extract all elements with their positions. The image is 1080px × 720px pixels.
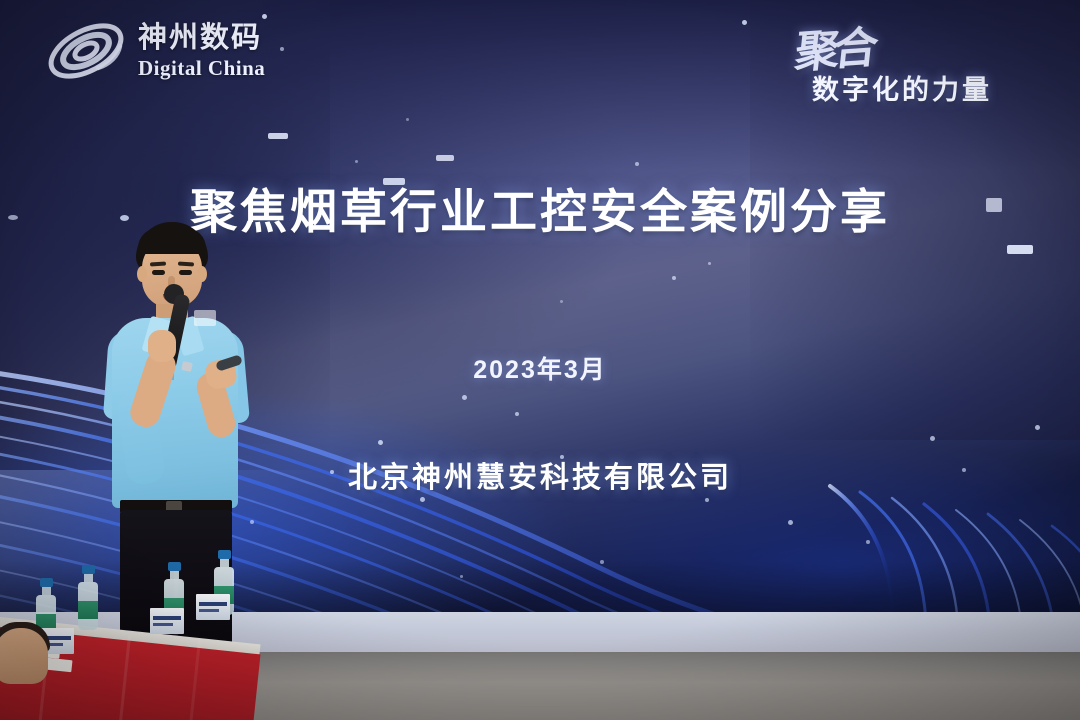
microphone-tip: [181, 361, 193, 372]
speaker-ear-right: [197, 266, 207, 282]
brand-name-en: Digital China: [138, 58, 265, 79]
bottle-neck: [84, 574, 93, 582]
bottle-neck: [220, 559, 229, 567]
event-slogan: 数字化的力量: [812, 68, 992, 107]
speaker-hair-fringe: [138, 228, 206, 254]
bottle-cap: [168, 562, 181, 571]
audience-member: [0, 628, 48, 684]
speaker-chest-logo: [194, 310, 216, 326]
bottle-cap: [82, 565, 95, 574]
speaker-eye-left: [152, 270, 165, 275]
bottle-cap: [218, 550, 231, 559]
water-bottle: [78, 565, 98, 630]
speaker-hand-left: [148, 330, 176, 362]
name-card: [150, 608, 184, 634]
conference-stage-photo: 神州数码 Digital China 聚合 数字化的力量 聚焦烟草行业工控安全案…: [0, 0, 1080, 720]
digital-china-wordmark: 神州数码 Digital China: [138, 24, 265, 79]
speaker-ear-left: [137, 266, 147, 282]
bottle-cap: [40, 578, 53, 587]
swirl-spiral-icon: [44, 18, 128, 84]
name-card-bar: [199, 602, 227, 606]
bottle-neck: [42, 587, 51, 595]
speaker-eye-right: [179, 270, 192, 275]
name-card-bar: [199, 609, 219, 612]
digital-china-logo: 神州数码 Digital China: [44, 18, 265, 84]
bottle-neck: [170, 571, 179, 579]
event-logo: 聚合 数字化的力量: [784, 14, 1054, 114]
speaker-figure: [90, 222, 280, 622]
name-card-bar: [153, 623, 173, 626]
name-card-bar: [153, 616, 181, 620]
brand-name-cn: 神州数码: [138, 24, 265, 53]
name-card: [196, 594, 230, 620]
bottle-label: [78, 601, 98, 619]
